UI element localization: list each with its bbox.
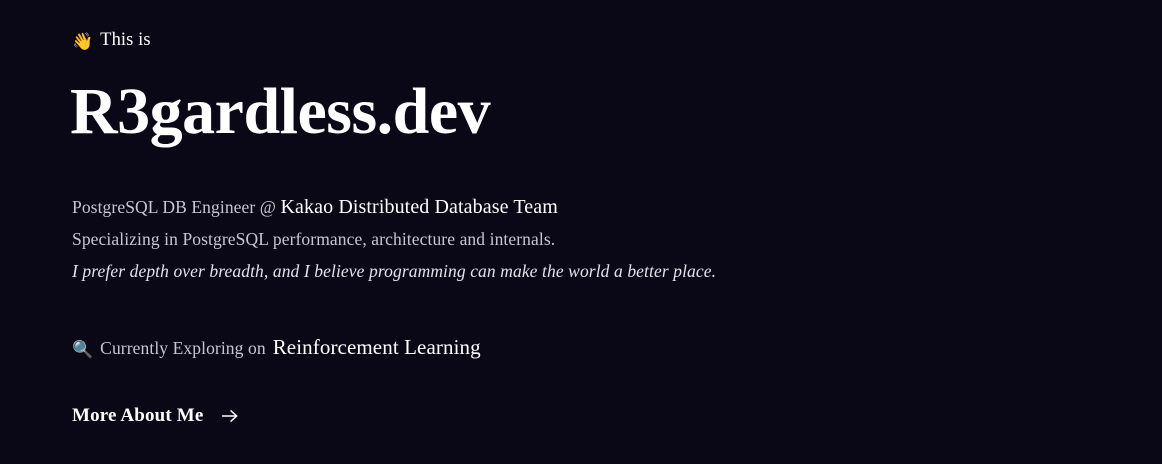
role-organization: Kakao Distributed Database Team — [281, 196, 558, 218]
role-prefix: PostgreSQL DB Engineer @ — [72, 197, 281, 217]
magnifying-glass-emoji: 🔍 — [72, 341, 93, 358]
role-line: PostgreSQL DB Engineer @ Kakao Distribut… — [72, 197, 972, 217]
page-title: R3gardless.dev — [70, 76, 490, 147]
exploring-label: Currently Exploring on — [100, 340, 266, 358]
arrow-right-icon — [220, 406, 240, 426]
more-about-me-label: More About Me — [72, 405, 203, 427]
description-block: PostgreSQL DB Engineer @ Kakao Distribut… — [72, 197, 972, 281]
more-about-me-link[interactable]: More About Me — [72, 405, 240, 427]
specialization-text: Specializing in PostgreSQL performance, … — [72, 229, 555, 249]
specialization-line: Specializing in PostgreSQL performance, … — [72, 231, 972, 249]
greeting-text: This is — [100, 31, 151, 50]
waving-hand-emoji: 👋 — [72, 33, 93, 50]
greeting-row: 👋 This is — [72, 31, 151, 50]
quote-text: I prefer depth over breadth, and I belie… — [72, 261, 716, 281]
hero-section: 👋 This is R3gardless.dev PostgreSQL DB E… — [0, 0, 1162, 464]
currently-exploring-row: 🔍 Currently Exploring on Reinforcement L… — [72, 337, 481, 358]
quote-line: I prefer depth over breadth, and I belie… — [72, 263, 972, 281]
exploring-topic: Reinforcement Learning — [273, 337, 481, 358]
